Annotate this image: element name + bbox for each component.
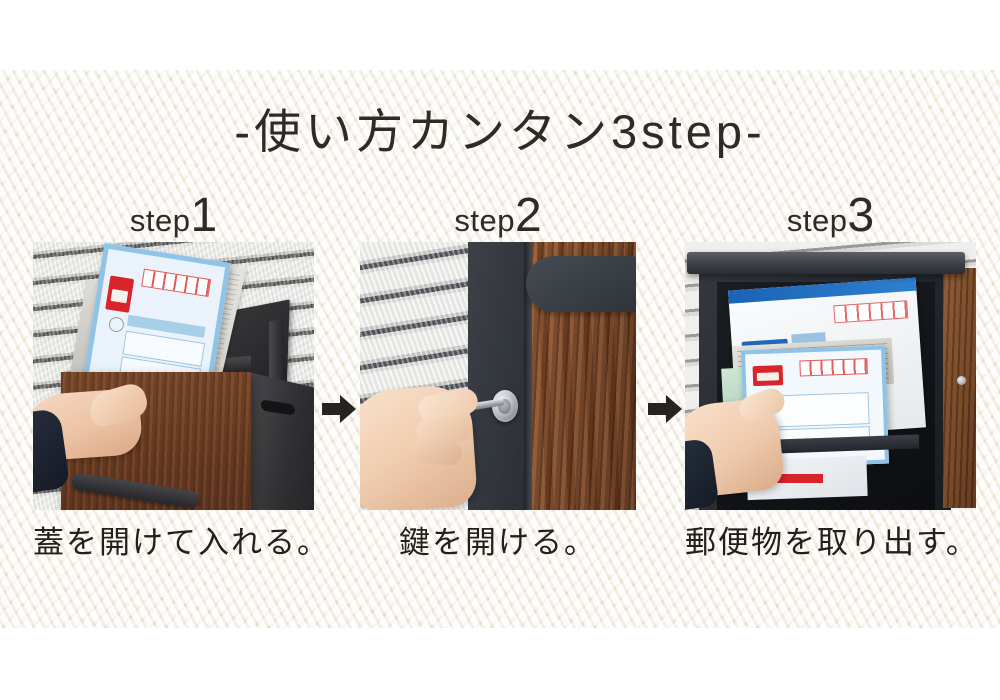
step-label-3: step3	[685, 190, 976, 242]
mailbox-side-panel	[248, 372, 314, 510]
postal-code-boxes	[833, 300, 908, 323]
step-label-2: step2	[360, 190, 636, 242]
red-stamp-label	[105, 275, 134, 312]
step-label-number-3: 3	[847, 189, 874, 242]
postal-code-boxes	[141, 269, 211, 297]
step-photo-2	[360, 242, 636, 510]
door-top-cap	[526, 256, 636, 312]
mailbox-dark-panel	[468, 242, 530, 510]
step-photo-3	[685, 242, 976, 510]
arrow-right-icon	[648, 393, 682, 425]
step-column-2: step2 鍵を開ける。	[360, 190, 636, 563]
arrow-right-icon	[322, 393, 356, 425]
step-caption-3: 郵便物を取り出す。	[685, 523, 976, 563]
mailbox-roof	[687, 252, 965, 274]
finger-ring	[411, 438, 463, 466]
step-caption-1: 蓋を開けて入れる。	[33, 523, 314, 563]
step-column-1: step1 蓋を開けて入れ	[33, 190, 314, 563]
round-postmark	[108, 316, 125, 333]
page-title: -使い方カンタン3step-	[0, 103, 1000, 161]
step-column-3: step3	[685, 190, 976, 563]
red-stamp-label	[753, 365, 784, 386]
page-root: -使い方カンタン3step- step1	[0, 0, 1000, 700]
postal-code-boxes	[799, 358, 868, 376]
step-label-word-2: step	[454, 203, 515, 238]
step-label-1: step1	[33, 190, 314, 242]
step-label-word-3: step	[787, 203, 848, 238]
step-caption-2: 鍵を開ける。	[360, 523, 636, 563]
door-lock-knob	[957, 376, 966, 385]
step-photo-1	[33, 242, 314, 510]
step-label-word-1: step	[130, 203, 191, 238]
mailbox-wood-door	[943, 268, 976, 508]
step-label-number-1: 1	[190, 189, 217, 242]
step-label-number-2: 2	[515, 189, 542, 242]
